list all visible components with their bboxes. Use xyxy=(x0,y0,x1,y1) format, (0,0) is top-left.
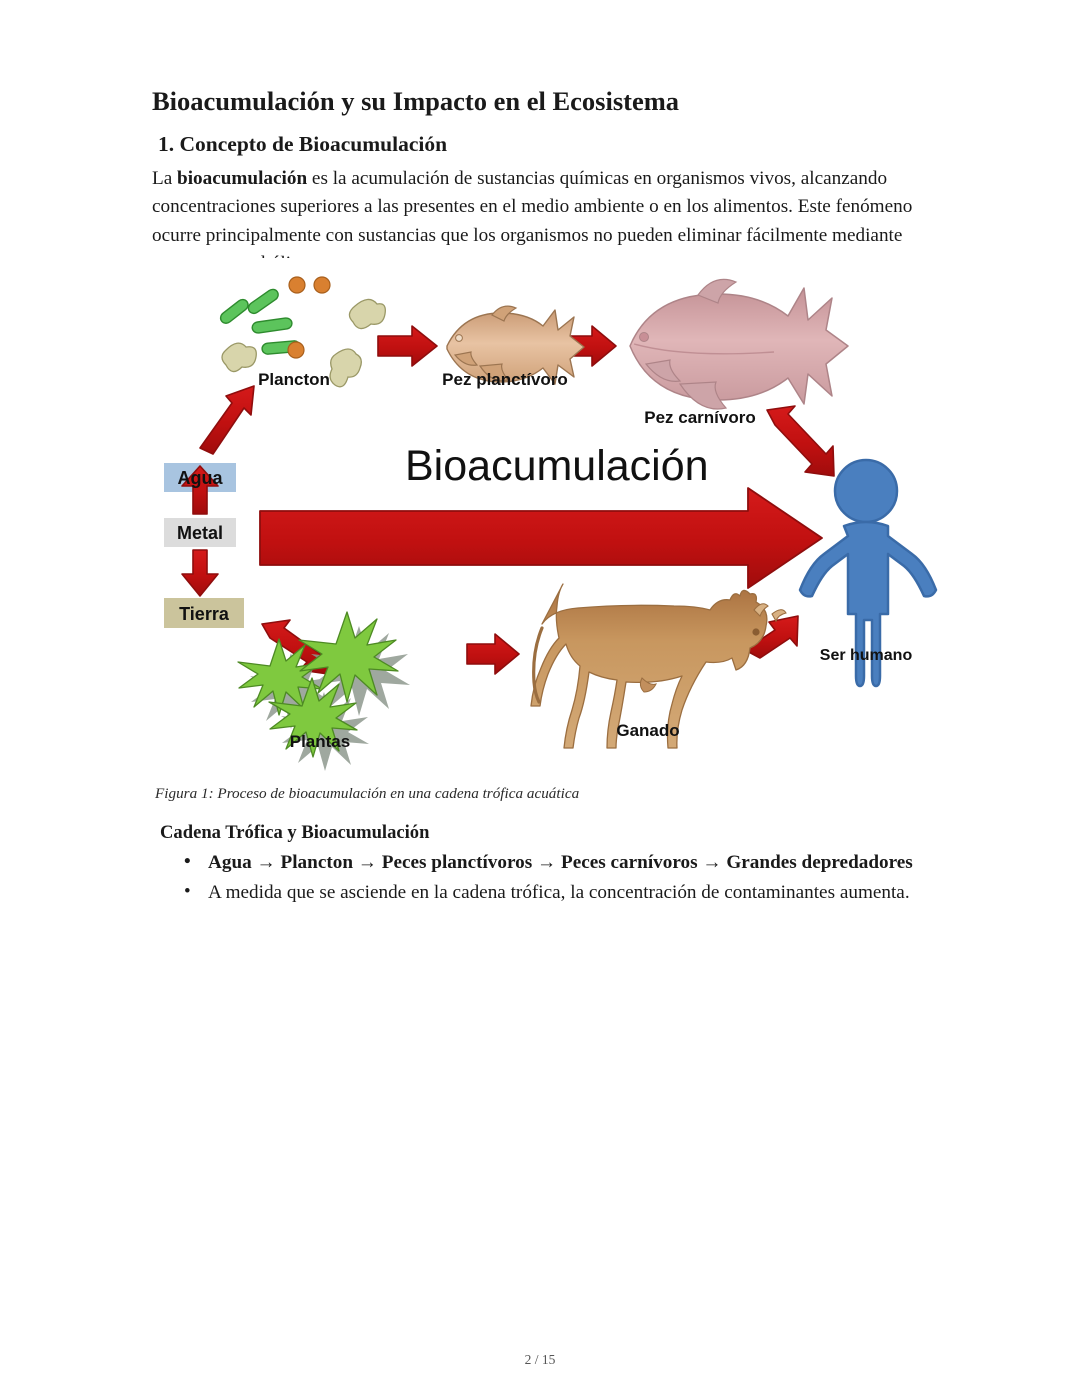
intro-lead: La xyxy=(152,168,177,189)
figure-caption: Figura 1: Proceso de bioacumulación en u… xyxy=(155,785,955,803)
list-item: A medida que se asciende en la cadena tr… xyxy=(206,879,960,907)
intro-bold-term: bioacumulación xyxy=(177,168,307,189)
bullet-list: Agua → Plancton → Peces planctívoros → P… xyxy=(160,849,960,906)
list-item: Agua → Plancton → Peces planctívoros → P… xyxy=(206,849,960,877)
label-pez-planctivoro: Pez planctívoro xyxy=(442,370,568,389)
label-box-agua: Agua xyxy=(178,468,224,488)
label-plantas: Plantas xyxy=(290,732,350,751)
label-ser-humano: Ser humano xyxy=(820,647,913,664)
section-heading: 1. Concepto de Bioacumulación xyxy=(158,132,942,158)
subsection-cadena-trofica: Cadena Trófica y Bioacumulación Agua → P… xyxy=(160,822,960,908)
label-box-metal: Metal xyxy=(177,523,223,543)
label-ganado: Ganado xyxy=(616,721,679,740)
page-title: Bioacumulación y su Impacto en el Ecosis… xyxy=(152,86,942,116)
label-pez-carnivoro: Pez carnívoro xyxy=(644,408,756,427)
figure-bioaccumulation-diagram: Plancton Pez planctívoro Pez carnívoro xyxy=(150,258,950,778)
label-box-tierra: Tierra xyxy=(179,604,230,624)
page-footer: 2 / 15 xyxy=(0,1352,1080,1368)
diagram-center-title: Bioacumulación xyxy=(405,442,709,490)
label-plancton: Plancton xyxy=(258,370,330,389)
document-content: Bioacumulación y su Impacto en el Ecosis… xyxy=(152,86,942,278)
diagram-svg: Plancton Pez planctívoro Pez carnívoro xyxy=(150,258,950,778)
subsection-title: Cadena Trófica y Bioacumulación xyxy=(160,822,960,844)
document-page: Bioacumulación y su Impacto en el Ecosis… xyxy=(0,0,1080,1397)
